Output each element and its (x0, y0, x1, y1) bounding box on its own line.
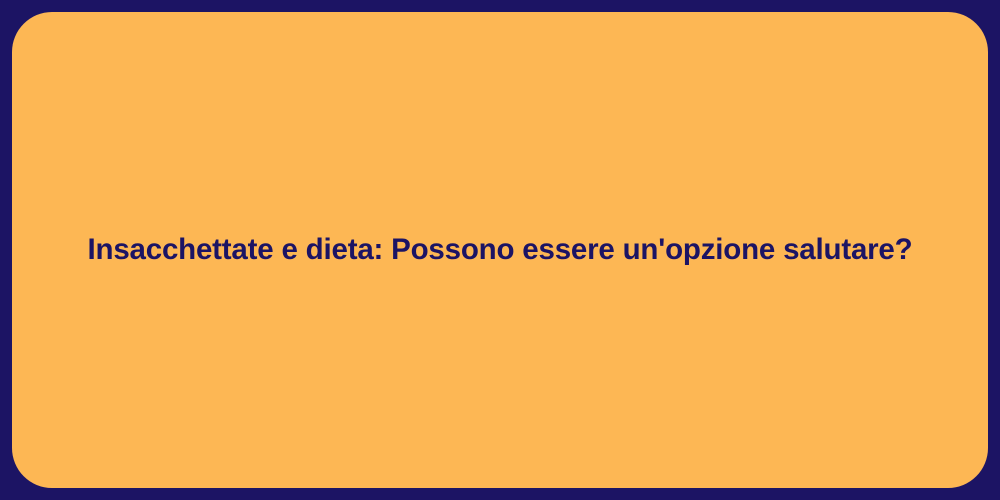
page-title: Insacchettate e dieta: Possono essere un… (48, 232, 953, 269)
card-border-frame: Insacchettate e dieta: Possono essere un… (0, 0, 1000, 500)
orange-card: Insacchettate e dieta: Possono essere un… (12, 12, 988, 488)
